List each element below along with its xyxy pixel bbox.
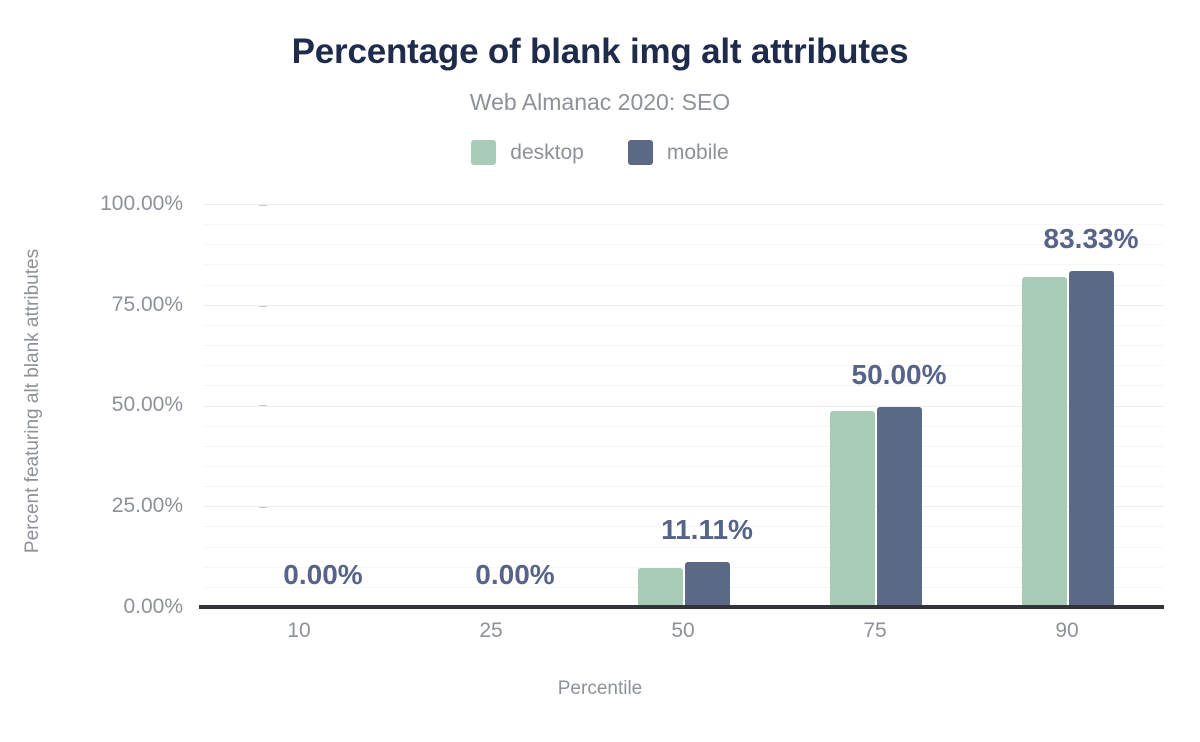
plot-area: 0.00%0.00%11.11%50.00%83.33% [203, 204, 1163, 607]
y-tick-label-100: 100.00% [63, 192, 183, 216]
y-tick-label-25: 25.00% [63, 494, 183, 518]
data-label-25: 0.00% [405, 559, 625, 591]
x-tick-label-25: 25 [431, 618, 551, 643]
chart-title: Percentage of blank img alt attributes [0, 30, 1200, 74]
x-axis-baseline [199, 605, 1164, 609]
y-axis-title: Percent featuring alt blank attributes [22, 121, 44, 681]
data-label-75: 50.00% [789, 359, 1009, 391]
legend-item-mobile[interactable]: mobile [628, 140, 729, 165]
y-tick-label-0: 0.00% [63, 595, 183, 619]
x-tick-label-10: 10 [239, 618, 359, 643]
data-labels-layer: 0.00%0.00%11.11%50.00%83.33% [203, 204, 1163, 607]
x-tick-label-90: 90 [1007, 618, 1127, 643]
x-tick-label-50: 50 [623, 618, 743, 643]
legend-item-desktop[interactable]: desktop [471, 140, 584, 165]
data-label-50: 11.11% [597, 514, 817, 546]
legend-swatch-mobile [628, 140, 653, 165]
chart-legend: desktop mobile [0, 140, 1200, 165]
y-tick-label-50: 50.00% [63, 393, 183, 417]
y-axis-ticks: 100.00% 75.00% 50.00% 25.00% 0.00% [63, 204, 183, 607]
chart-container: Percentage of blank img alt attributes W… [0, 0, 1200, 742]
data-label-90: 83.33% [981, 223, 1200, 255]
chart-subtitle: Web Almanac 2020: SEO [0, 87, 1200, 117]
legend-label-desktop: desktop [510, 140, 584, 165]
legend-swatch-desktop [471, 140, 496, 165]
x-axis-title: Percentile [0, 678, 1200, 700]
y-tick-label-75: 75.00% [63, 293, 183, 317]
legend-label-mobile: mobile [667, 140, 729, 165]
data-label-10: 0.00% [213, 559, 433, 591]
x-tick-label-75: 75 [815, 618, 935, 643]
